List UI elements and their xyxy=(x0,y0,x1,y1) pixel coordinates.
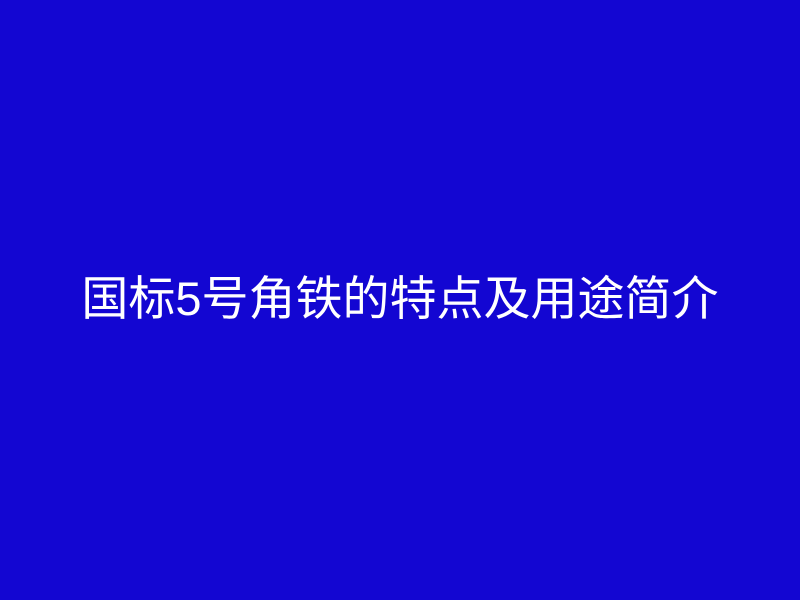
headline-container: 国标5号角铁的特点及用途简介 xyxy=(0,274,800,324)
page-title: 国标5号角铁的特点及用途简介 xyxy=(81,274,718,324)
slide-canvas: 国标5号角铁的特点及用途简介 xyxy=(0,0,800,600)
